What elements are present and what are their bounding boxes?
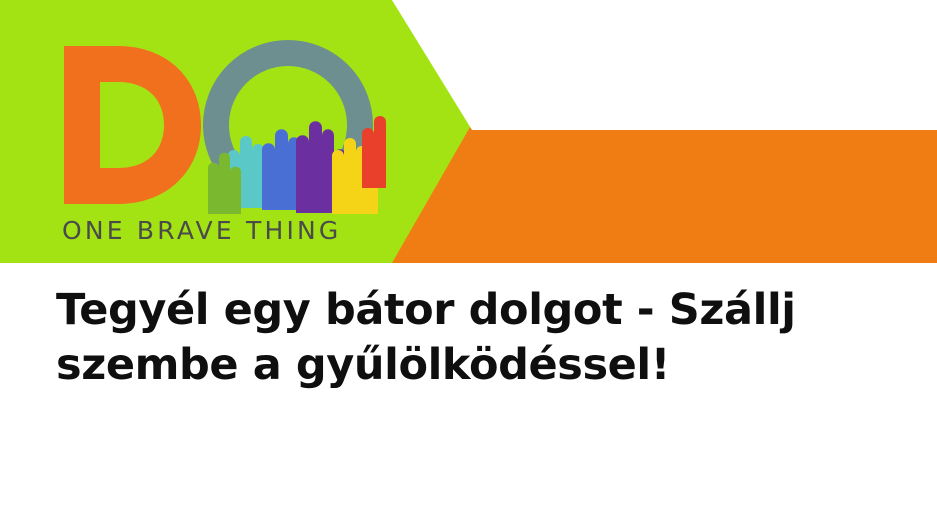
headline-text: Tegyél egy bátor dolgot - Szállj szembe …	[56, 283, 906, 393]
white-wedge-shape	[392, 0, 937, 130]
logo-letter-d	[64, 46, 201, 204]
campaign-banner: ONE BRAVE THING Tegyél egy bátor dolgot …	[0, 0, 937, 527]
do-one-brave-thing-logo: ONE BRAVE THING	[56, 38, 386, 243]
logo-tagline: ONE BRAVE THING	[62, 216, 342, 243]
top-graphic-band: ONE BRAVE THING	[0, 0, 937, 263]
